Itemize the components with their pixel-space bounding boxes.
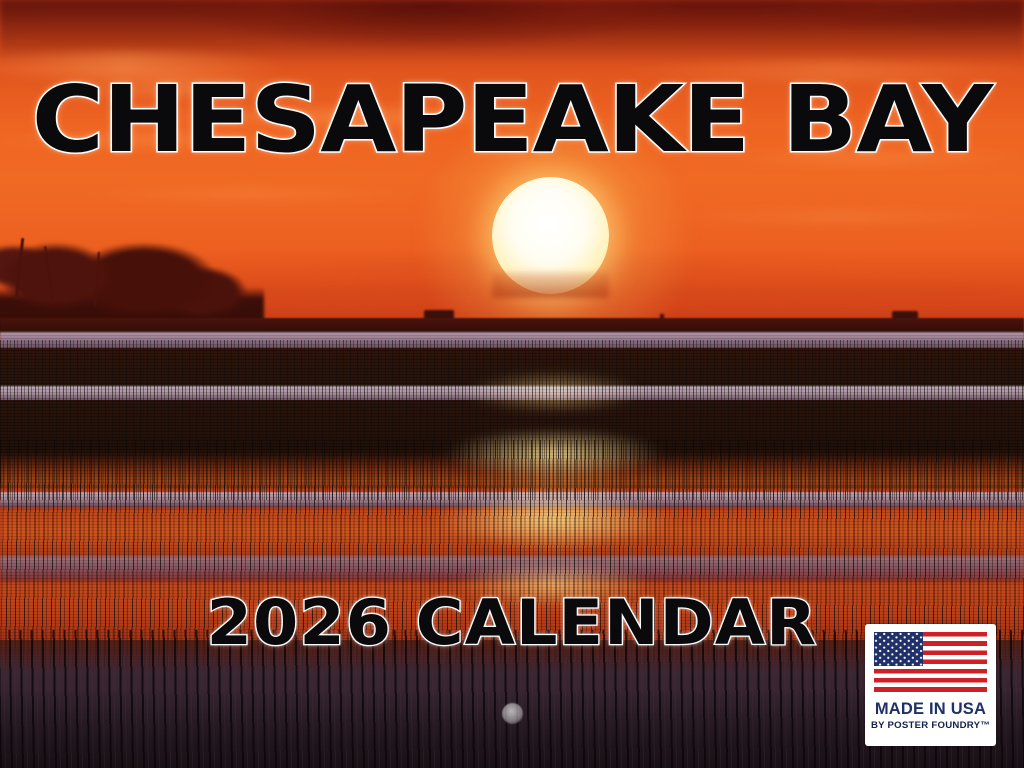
flag-canton — [874, 632, 923, 666]
badge-made-in-usa-text: MADE IN USA — [875, 701, 986, 718]
united-states-flag-icon — [874, 632, 987, 695]
page-title: CHESAPEAKE BAY — [0, 74, 1024, 166]
calendar-cover: CHESAPEAKE BAY 2026 CALENDAR MADE IN USA… — [0, 0, 1024, 768]
sun-haze-band — [492, 272, 609, 298]
lens-bokeh-spot — [502, 703, 523, 724]
made-in-usa-badge: MADE IN USA BY POSTER FOUNDRY™ — [865, 624, 996, 746]
flag-stars — [874, 632, 923, 666]
cloud-wisp — [60, 188, 440, 201]
badge-by-line-text: BY POSTER FOUNDRY™ — [871, 720, 990, 731]
